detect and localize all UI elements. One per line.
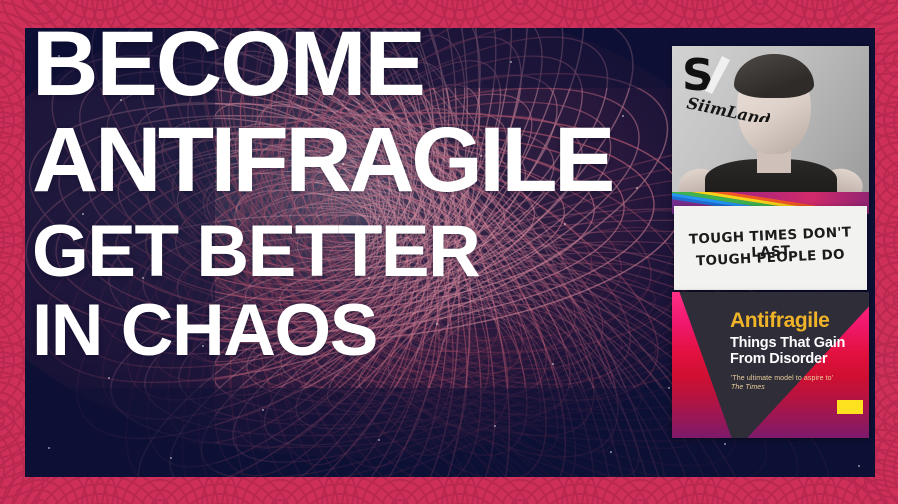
svg-text:SiimLand: SiimLand (685, 93, 770, 122)
image-collage: S SiimLand S SiimLand TOUGH TIMES DON'T … (672, 46, 869, 438)
headline-line-3: GET BETTER (32, 218, 692, 285)
headline-block: BECOME ANTIFRAGILE GET BETTER IN CHAOS (32, 6, 692, 365)
youtube-thumbnail: BECOME ANTIFRAGILE GET BETTER IN CHAOS S… (0, 0, 898, 504)
book-yellow-block (837, 400, 863, 414)
handwritten-sign: TOUGH TIMES DON'T LAST TOUGH PEOPLE DO (674, 206, 867, 290)
book-quote-source: The Times (731, 383, 833, 392)
headline-line-4: IN CHAOS (32, 297, 692, 364)
headline-line-2: ANTIFRAGILE (32, 118, 692, 203)
book-title: Antifragile (730, 310, 829, 331)
siimland-logo-icon: S SiimLand (678, 50, 770, 122)
book-quote-block: 'The ultimate model to aspire to' The Ti… (731, 374, 833, 392)
headline-line-1: BECOME (32, 22, 692, 107)
book-subtitle: Things That Gain From Disorder (730, 336, 845, 367)
book-subtitle-line-2: From Disorder (730, 352, 845, 368)
antifragile-book-cover: Antifragile Things That Gain From Disord… (672, 292, 869, 438)
presenter-photo: S SiimLand S SiimLand (672, 46, 869, 201)
svg-text:S: S (682, 50, 714, 101)
book-subtitle-line-1: Things That Gain (730, 336, 845, 352)
book-quote-text: 'The ultimate model to aspire to' (731, 375, 833, 382)
